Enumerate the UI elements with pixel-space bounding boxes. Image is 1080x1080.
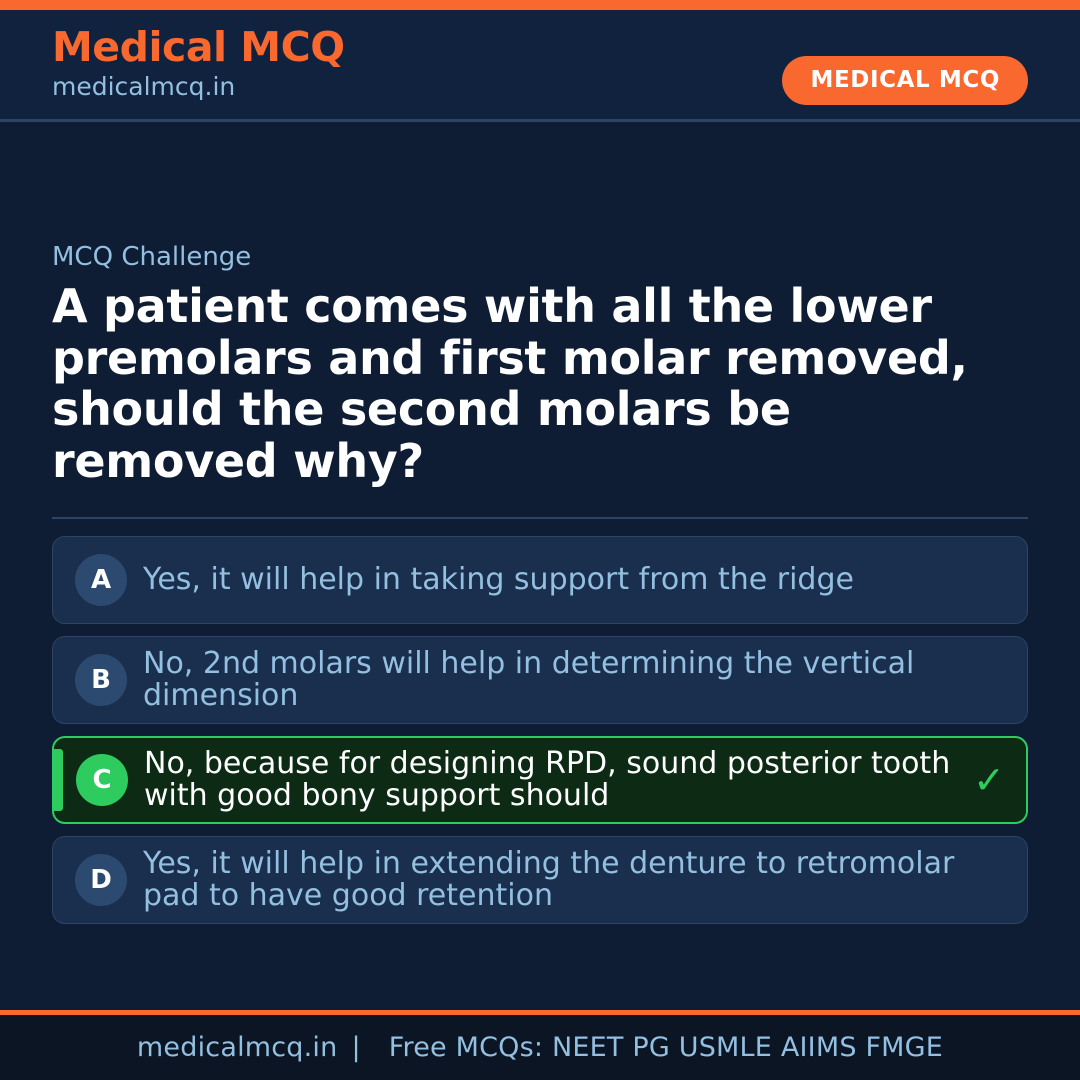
header: Medical MCQ medicalmcq.in MEDICAL MCQ <box>0 10 1080 122</box>
top-accent-bar <box>0 0 1080 10</box>
footer-content: medicalmcq.in|Free MCQs: NEET PG USMLE A… <box>137 1032 943 1063</box>
option-letter-badge: B <box>75 654 127 706</box>
header-badge: MEDICAL MCQ <box>782 56 1028 105</box>
option-text: No, 2nd molars will help in determining … <box>143 648 973 712</box>
footer-site: medicalmcq.in <box>137 1032 338 1063</box>
check-icon: ✓ <box>972 761 1006 799</box>
footer: medicalmcq.in|Free MCQs: NEET PG USMLE A… <box>0 1010 1080 1080</box>
option-d[interactable]: D Yes, it will help in extending the den… <box>52 836 1028 924</box>
option-a[interactable]: A Yes, it will help in taking support fr… <box>52 536 1028 624</box>
option-b[interactable]: B No, 2nd molars will help in determinin… <box>52 636 1028 724</box>
eyebrow-label: MCQ Challenge <box>52 242 1028 273</box>
option-letter-badge: A <box>75 554 127 606</box>
brand-subtitle: medicalmcq.in <box>52 71 345 102</box>
brand-title: Medical MCQ <box>52 26 345 69</box>
correct-accent-bar <box>54 749 63 811</box>
option-letter-badge: C <box>76 754 128 806</box>
option-text: No, because for designing RPD, sound pos… <box>144 748 972 812</box>
footer-separator: | <box>337 1032 374 1063</box>
brand-block: Medical MCQ medicalmcq.in <box>52 26 345 102</box>
footer-tags: Free MCQs: NEET PG USMLE AIIMS FMGE <box>375 1032 943 1063</box>
option-c[interactable]: C No, because for designing RPD, sound p… <box>52 736 1028 824</box>
option-text: Yes, it will help in taking support from… <box>143 564 973 596</box>
option-text: Yes, it will help in extending the dentu… <box>143 848 973 912</box>
option-letter-badge: D <box>75 854 127 906</box>
section-divider <box>52 517 1028 519</box>
options-list: A Yes, it will help in taking support fr… <box>52 536 1028 924</box>
mcq-card: Medical MCQ medicalmcq.in MEDICAL MCQ MC… <box>0 0 1080 1080</box>
question-text: A patient comes with all the lower premo… <box>52 281 1012 487</box>
main-content: MCQ Challenge A patient comes with all t… <box>0 122 1080 1010</box>
